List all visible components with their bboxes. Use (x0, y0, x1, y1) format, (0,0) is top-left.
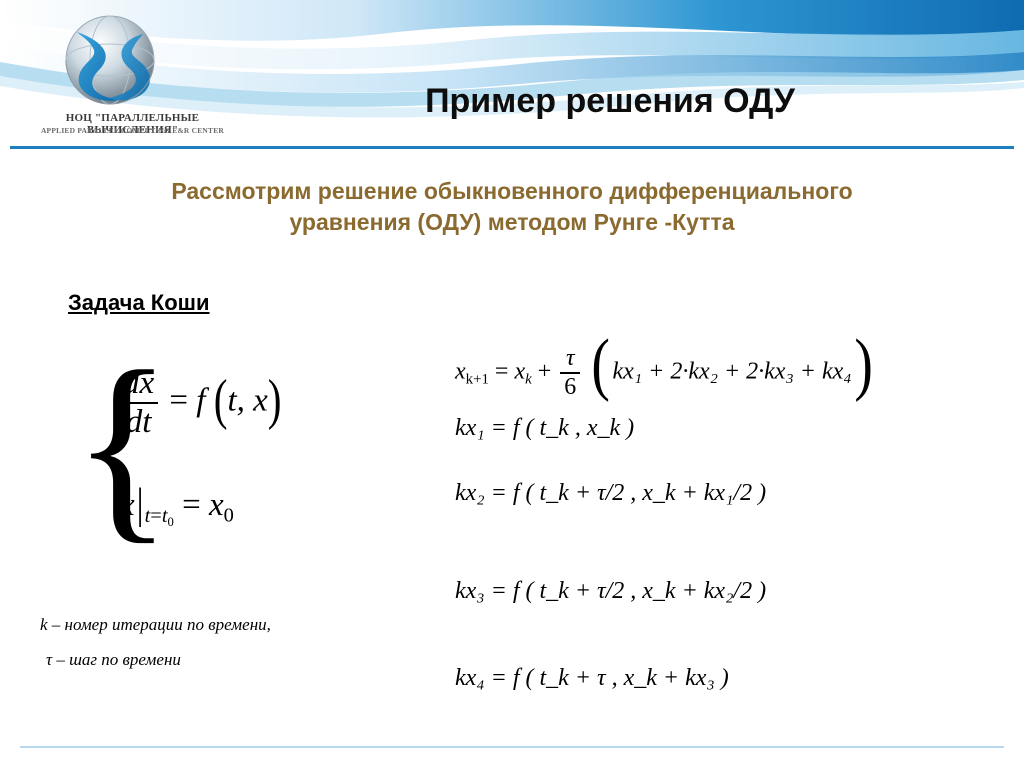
rk-kx3-formula: kx₃ = f ( t_k + τ/2 , x_k + kx₂/2 ) (455, 578, 766, 605)
rk-main-formula: xk+1 = xk + τ 6 (kx₁ + 2·kx₂ + 2·kx₃ + k… (455, 345, 875, 401)
ic-rhs-sub: 0 (224, 505, 234, 527)
ic-equals-sign: = (182, 487, 201, 523)
derivative-fraction: dx dt (119, 365, 158, 441)
rk-main-xk: x (514, 359, 525, 385)
ic-condition: t=t0 (145, 505, 174, 527)
ic-variable: x (120, 487, 135, 523)
cauchy-problem-label: Задача Коши (68, 290, 210, 316)
subtitle-line-2: уравнения (ОДУ) методом Рунге -Кутта (289, 209, 734, 235)
rk-kx1-formula: kx₁ = f ( t_k , x_k ) (455, 415, 634, 442)
ode-arguments: t, x (227, 383, 267, 419)
footer-divider (20, 746, 1004, 748)
rk-main-terms: kx₁ + 2·kx₂ + 2·kx₃ + kx₄ (612, 359, 851, 385)
kx3-expression: kx₃ = f ( t_k + τ/2 , x_k + kx₂/2 ) (455, 578, 766, 604)
derivative-numerator: dx (119, 365, 158, 402)
rk-main-lhs: x (455, 359, 466, 385)
ic-cond-eq: = (150, 505, 162, 527)
note-k-definition: k – номер итерации по времени, (40, 615, 271, 635)
ic-cond-t0-sub: 0 (168, 515, 174, 529)
note-tau-definition: τ – шаг по времени (46, 650, 181, 670)
subtitle-block: Рассмотрим решение обыкновенного диффере… (40, 176, 984, 238)
cauchy-system: { dx dt = f (t, x) x|t=t0 = x0 (72, 345, 402, 565)
ode-equals-sign: = (169, 383, 188, 419)
evaluation-bar: | (137, 480, 144, 529)
page-title: Пример решения ОДУ (230, 82, 990, 121)
close-paren: ) (268, 367, 282, 432)
tau-over-six: τ 6 (560, 345, 580, 401)
initial-condition: x|t=t0 = x0 (120, 485, 234, 530)
six-denominator: 6 (560, 372, 580, 401)
system-brace: { (72, 345, 108, 565)
kx4-expression: kx₄ = f ( t_k + τ , x_k + kx₃ ) (455, 665, 729, 691)
rk-kx2-formula: kx₂ = f ( t_k + τ/2 , x_k + kx₁/2 ) (455, 480, 766, 507)
tau-numerator: τ (560, 345, 580, 372)
globe-icon (35, 12, 185, 112)
rk-kx4-formula: kx₄ = f ( t_k + τ , x_k + kx₃ ) (455, 665, 729, 692)
ode-equation: dx dt = f (t, x) (116, 365, 282, 441)
open-paren: ( (214, 367, 228, 432)
header-banner: НОЦ "ПАРАЛЛЕЛЬНЫЕ ВЫЧИСЛЕНИЯ" APPLIED PA… (0, 0, 1024, 150)
ic-rhs: x (209, 487, 224, 523)
ode-function-f: f (196, 383, 205, 419)
organization-logo: НОЦ "ПАРАЛЛЕЛЬНЫЕ ВЫЧИСЛЕНИЯ" APPLIED PA… (35, 12, 230, 147)
subtitle-line-1: Рассмотрим решение обыкновенного диффере… (171, 178, 852, 204)
rk-main-equals: = (495, 359, 509, 385)
title-divider (10, 146, 1014, 149)
kx1-expression: kx₁ = f ( t_k , x_k ) (455, 415, 634, 441)
derivative-denominator: dt (119, 402, 158, 441)
logo-caption-en: APPLIED PARALLEL COMPUTING E&R CENTER (35, 126, 230, 135)
kx2-expression: kx₂ = f ( t_k + τ/2 , x_k + kx₁/2 ) (455, 480, 766, 506)
rk-main-lhs-sub: k+1 (466, 371, 489, 387)
rk-main-xk-sub: k (525, 371, 532, 387)
rk-main-plus: + (538, 359, 552, 385)
